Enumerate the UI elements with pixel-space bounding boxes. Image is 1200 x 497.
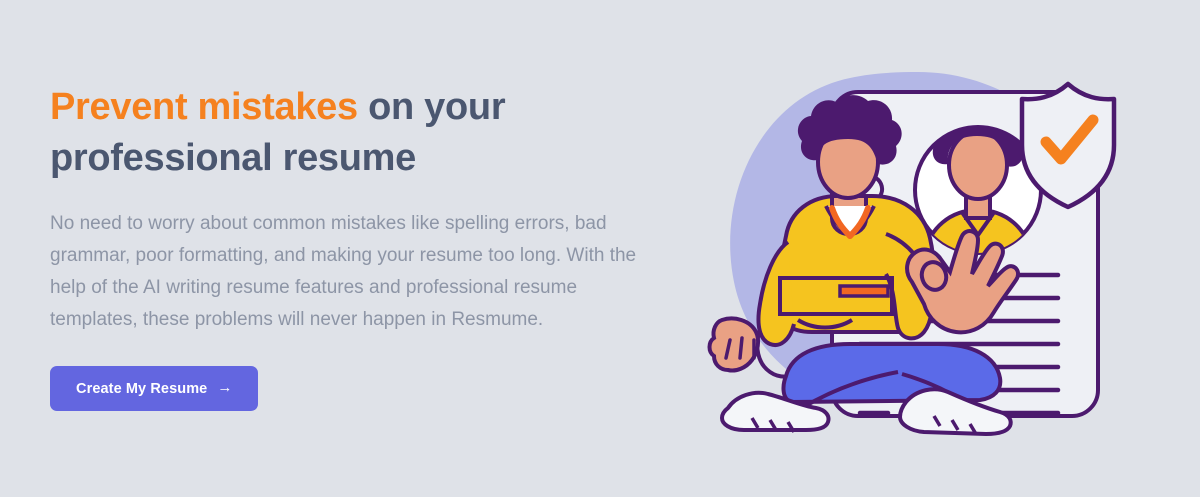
hero-copy-column: Prevent mistakes on your professional re…	[50, 82, 670, 411]
hero-paragraph: No need to worry about common mistakes l…	[50, 184, 655, 336]
hero-illustration	[690, 30, 1130, 470]
create-my-resume-button[interactable]: Create My Resume →	[50, 366, 258, 411]
page-title: Prevent mistakes on your professional re…	[50, 82, 670, 184]
arrow-right-icon: →	[217, 380, 232, 395]
cta-label: Create My Resume	[76, 381, 207, 397]
left-hand	[710, 319, 759, 371]
illustration-svg	[690, 30, 1130, 470]
headline-accent-text: Prevent mistakes	[50, 86, 358, 128]
hero-section: Prevent mistakes on your professional re…	[0, 0, 1200, 497]
